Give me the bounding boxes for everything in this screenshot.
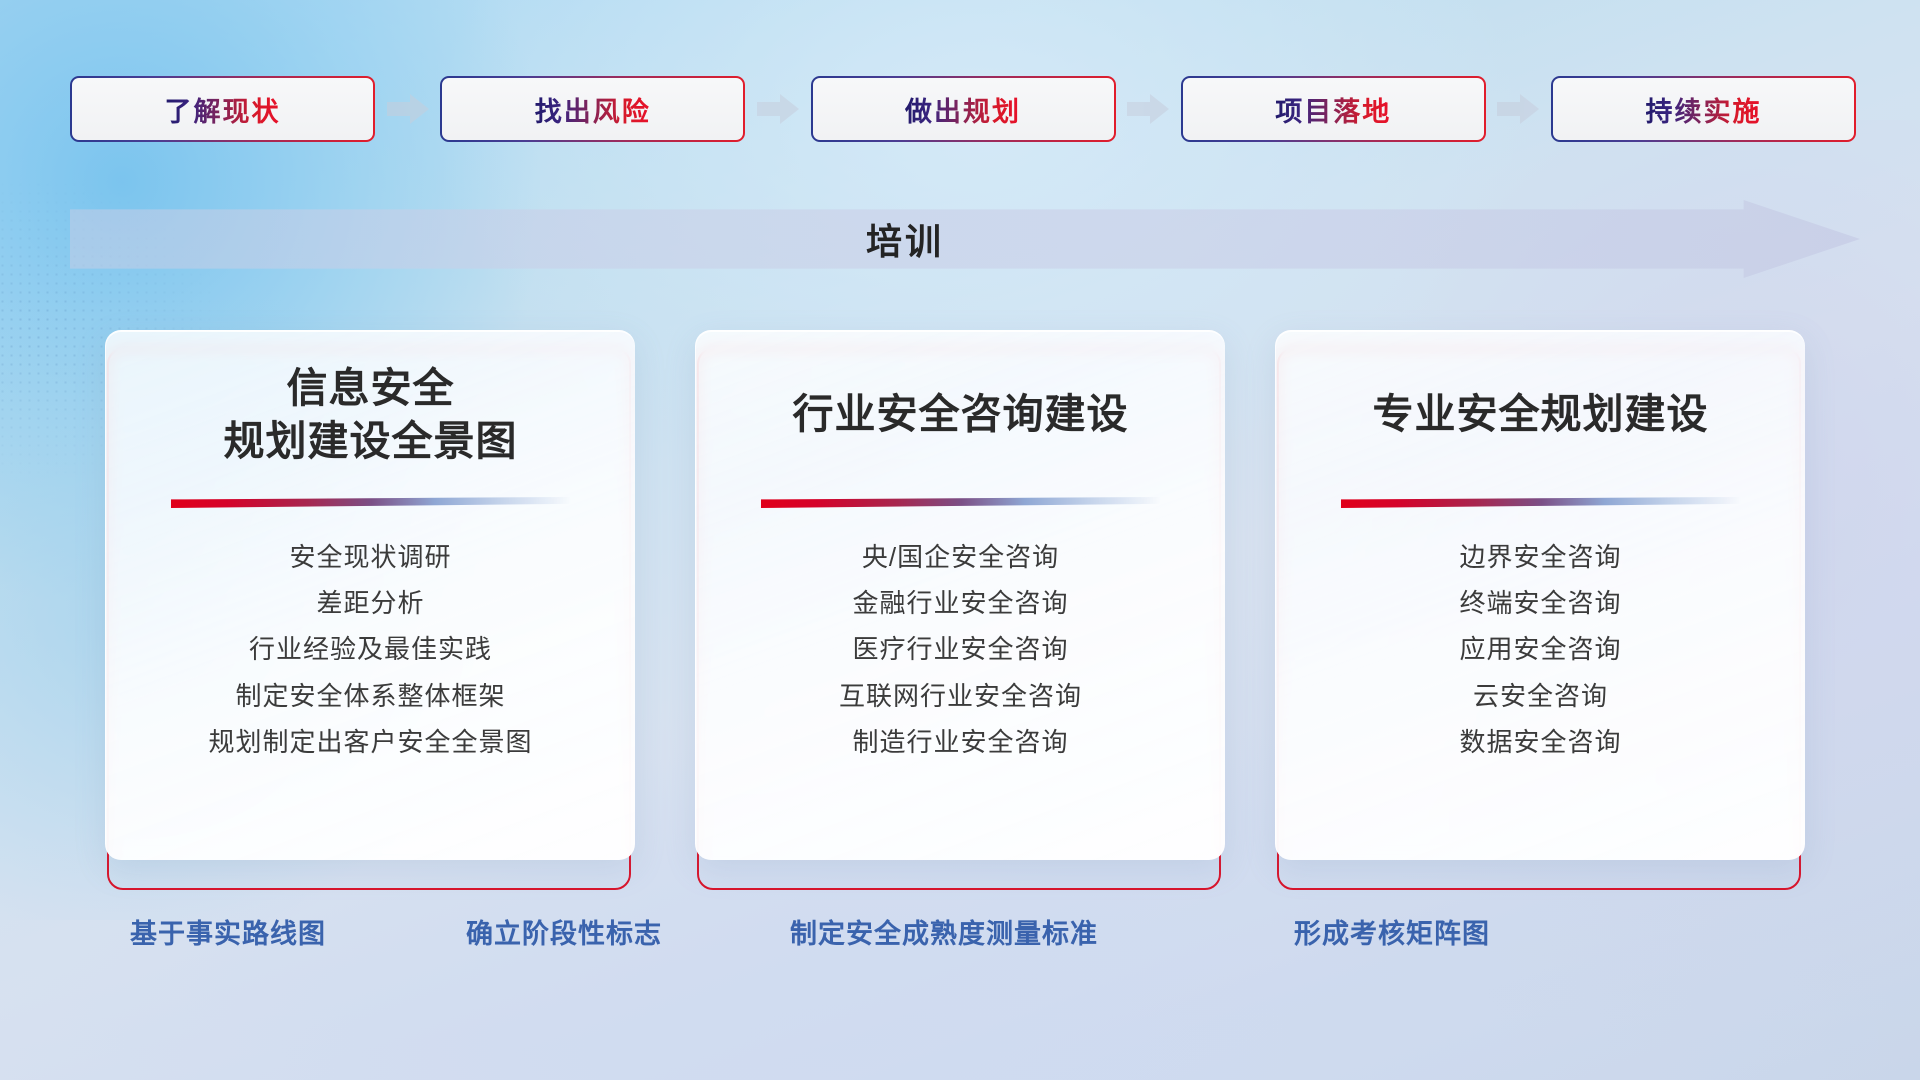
card-3-item-list: 边界安全咨询 终端安全咨询 应用安全咨询 云安全咨询 数据安全咨询: [1459, 542, 1621, 758]
bottom-label-row: 基于事实路线图 确立阶段性标志 制定安全成熟度测量标准 形成考核矩阵图: [0, 912, 1920, 964]
list-item: 差距分析: [316, 588, 424, 619]
card-2-panel: 行业安全咨询建设 央/国企安全咨询 金融行业安全咨询 医疗行业安全咨询 互联网行…: [695, 330, 1225, 860]
arrow-head: [780, 94, 799, 124]
card-2-item-list: 央/国企安全咨询 金融行业安全咨询 医疗行业安全咨询 互联网行业安全咨询 制造行…: [839, 542, 1082, 758]
step-label-4: 项目落地: [1275, 90, 1391, 129]
step-box-4[interactable]: 项目落地: [1181, 76, 1486, 142]
list-item: 金融行业安全咨询: [852, 588, 1068, 619]
arrow-tail: [387, 102, 412, 116]
step-box-1[interactable]: 了解现状: [70, 76, 375, 142]
divider-bar: [1341, 497, 1741, 508]
list-item: 应用安全咨询: [1459, 634, 1621, 665]
step-label-1: 了解现状: [165, 90, 281, 129]
card-2-divider: [761, 497, 1161, 508]
divider-bar: [171, 497, 571, 508]
step-arrow-icon-2: [757, 94, 799, 124]
bottom-label-1: 基于事实路线图: [130, 912, 326, 951]
arrow-tail: [1127, 102, 1152, 116]
step-box-1-inner: 了解现状: [72, 78, 373, 140]
card-3[interactable]: 专业安全规划建设 边界安全咨询 终端安全咨询 应用安全咨询 云安全咨询 数据安全…: [1275, 330, 1805, 890]
list-item: 云安全咨询: [1473, 681, 1608, 712]
card-3-title: 专业安全规划建设: [1373, 359, 1709, 471]
card-1-divider: [171, 497, 571, 508]
arrow-head: [1520, 94, 1539, 124]
bottom-label-2: 确立阶段性标志: [466, 912, 662, 951]
step-label-2: 找出风险: [535, 90, 651, 129]
arrow-tail: [757, 102, 782, 116]
step-label-5: 持续实施: [1646, 90, 1762, 129]
step-arrow-icon-1: [387, 94, 429, 124]
step-box-5[interactable]: 持续实施: [1551, 76, 1856, 142]
card-1-item-list: 安全现状调研 差距分析 行业经验及最佳实践 制定安全体系整体框架 规划制定出客户…: [208, 542, 532, 758]
banner-title: 培训: [70, 200, 1860, 278]
list-item: 安全现状调研: [289, 542, 451, 573]
card-1-title: 信息安全 规划建设全景图: [224, 359, 518, 471]
card-2-title-line-1: 行业安全咨询建设: [793, 388, 1129, 441]
card-1[interactable]: 信息安全 规划建设全景图 安全现状调研 差距分析 行业经验及最佳实践 制定安全体…: [105, 330, 635, 890]
card-3-title-line-1: 专业安全规划建设: [1373, 388, 1709, 441]
card-1-title-line-1: 信息安全: [224, 362, 518, 415]
card-1-panel: 信息安全 规划建设全景图 安全现状调研 差距分析 行业经验及最佳实践 制定安全体…: [105, 330, 635, 860]
divider-bar: [761, 497, 1161, 508]
step-box-2[interactable]: 找出风险: [440, 76, 745, 142]
list-item: 互联网行业安全咨询: [839, 681, 1082, 712]
list-item: 医疗行业安全咨询: [852, 634, 1068, 665]
list-item: 终端安全咨询: [1459, 588, 1621, 619]
step-box-3-inner: 做出规划: [813, 78, 1114, 140]
list-item: 行业经验及最佳实践: [249, 634, 492, 665]
list-item: 制造行业安全咨询: [852, 727, 1068, 758]
card-3-divider: [1341, 497, 1741, 508]
arrow-head: [1150, 94, 1169, 124]
card-3-panel: 专业安全规划建设 边界安全咨询 终端安全咨询 应用安全咨询 云安全咨询 数据安全…: [1275, 330, 1805, 860]
arrow-head: [410, 94, 429, 124]
training-banner: 培训: [70, 200, 1860, 278]
list-item: 规划制定出客户安全全景图: [208, 727, 532, 758]
list-item: 数据安全咨询: [1459, 727, 1621, 758]
card-group: 信息安全 规划建设全景图 安全现状调研 差距分析 行业经验及最佳实践 制定安全体…: [70, 330, 1860, 890]
bottom-label-3: 制定安全成熟度测量标准: [790, 912, 1098, 951]
step-box-5-inner: 持续实施: [1553, 78, 1854, 140]
step-label-3: 做出规划: [905, 90, 1021, 129]
step-box-2-inner: 找出风险: [442, 78, 743, 140]
process-step-flow: 了解现状 找出风险 做出规划 项目落地 持续实施: [70, 76, 1856, 142]
arrow-tail: [1497, 102, 1522, 116]
list-item: 制定安全体系整体框架: [235, 681, 505, 712]
list-item: 央/国企安全咨询: [862, 542, 1059, 573]
list-item: 边界安全咨询: [1459, 542, 1621, 573]
card-1-title-line-2: 规划建设全景图: [224, 415, 518, 468]
bottom-label-4: 形成考核矩阵图: [1294, 912, 1490, 951]
step-box-3[interactable]: 做出规划: [811, 76, 1116, 142]
step-box-4-inner: 项目落地: [1183, 78, 1484, 140]
step-arrow-icon-4: [1497, 94, 1539, 124]
card-2-title: 行业安全咨询建设: [793, 359, 1129, 471]
step-arrow-icon-3: [1127, 94, 1169, 124]
card-2[interactable]: 行业安全咨询建设 央/国企安全咨询 金融行业安全咨询 医疗行业安全咨询 互联网行…: [695, 330, 1225, 890]
